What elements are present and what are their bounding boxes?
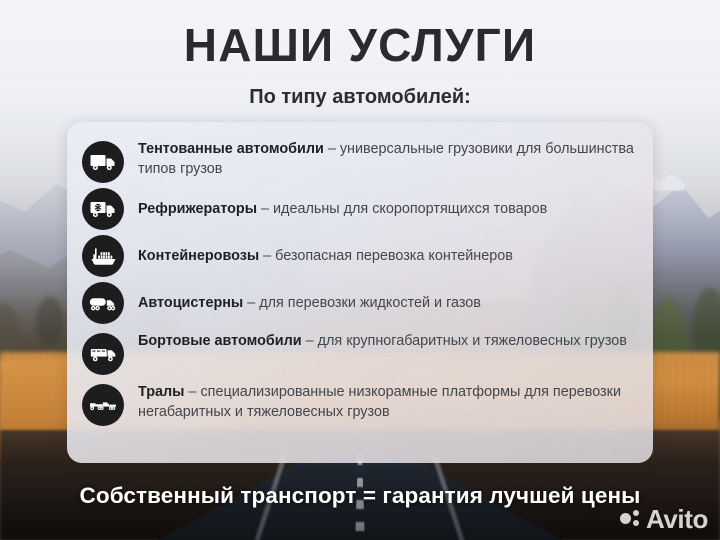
avito-wordmark: Avito bbox=[646, 506, 708, 532]
list-item-dash: – bbox=[184, 384, 200, 400]
list-item[interactable]: Рефрижераторы – идеальны для скоропортящ… bbox=[82, 188, 635, 230]
avito-dots-icon bbox=[620, 509, 644, 529]
list-item-title: Рефрижераторы bbox=[138, 201, 257, 217]
container-ship-icon bbox=[82, 235, 124, 277]
flatbed-truck-icon bbox=[82, 333, 124, 375]
list-item[interactable]: Тралы – специализированные низкорамные п… bbox=[82, 380, 635, 426]
list-item-dash: – bbox=[257, 201, 273, 217]
services-list: Тентованные автомобили – универсальные г… bbox=[67, 122, 653, 463]
list-item-text: Бортовые автомобили – для крупногабаритн… bbox=[138, 329, 627, 351]
list-item-title: Автоцистерны bbox=[138, 295, 243, 311]
list-item-title: Тралы bbox=[138, 384, 184, 400]
list-item-text: Автоцистерны – для перевозки жидкостей и… bbox=[138, 293, 481, 313]
list-item[interactable]: Контейнеровозы – безопасная перевозка ко… bbox=[82, 235, 635, 277]
list-item[interactable]: Бортовые автомобили – для крупногабаритн… bbox=[82, 329, 635, 375]
lowboy-trailer-icon bbox=[82, 384, 124, 426]
services-card: Тентованные автомобили – универсальные г… bbox=[67, 122, 653, 463]
list-item-title: Бортовые автомобили bbox=[138, 333, 302, 349]
list-item-text: Рефрижераторы – идеальны для скоропортящ… bbox=[138, 199, 547, 219]
list-item[interactable]: Тентованные автомобили – универсальные г… bbox=[82, 137, 635, 183]
list-item[interactable]: Автоцистерны – для перевозки жидкостей и… bbox=[82, 282, 635, 324]
list-item-dash: – bbox=[243, 295, 259, 311]
list-item-desc: для перевозки жидкостей и газов bbox=[259, 295, 481, 311]
list-item-title: Контейнеровозы bbox=[138, 248, 259, 264]
list-item-desc: идеальны для скоропортящихся товаров bbox=[273, 201, 547, 217]
list-item-dash: – bbox=[324, 141, 340, 157]
list-item-desc: для крупногабаритных и тяжеловесных груз… bbox=[318, 333, 627, 349]
list-item-text: Тентованные автомобили – универсальные г… bbox=[138, 137, 635, 179]
page-subtitle: По типу автомобилей: bbox=[0, 86, 720, 109]
list-item-title: Тентованные автомобили bbox=[138, 141, 324, 157]
content: НАШИ УСЛУГИ По типу автомобилей: bbox=[0, 0, 720, 540]
list-item-desc: специализированные низкорамные платформы… bbox=[138, 384, 621, 420]
tanker-truck-icon bbox=[82, 282, 124, 324]
page-title: НАШИ УСЛУГИ bbox=[0, 18, 720, 72]
list-item-dash: – bbox=[259, 248, 275, 264]
list-item-dash: – bbox=[302, 333, 318, 349]
box-truck-icon bbox=[82, 141, 124, 183]
footer-tagline: Собственный транспорт = гарантия лучшей … bbox=[0, 483, 720, 509]
list-item-desc: безопасная перевозка контейнеров bbox=[275, 248, 513, 264]
avito-watermark: Avito bbox=[620, 506, 708, 532]
list-item-text: Контейнеровозы – безопасная перевозка ко… bbox=[138, 246, 513, 266]
refrigerator-truck-icon bbox=[82, 188, 124, 230]
poster: НАШИ УСЛУГИ По типу автомобилей: bbox=[0, 0, 720, 540]
list-item-text: Тралы – специализированные низкорамные п… bbox=[138, 380, 635, 422]
